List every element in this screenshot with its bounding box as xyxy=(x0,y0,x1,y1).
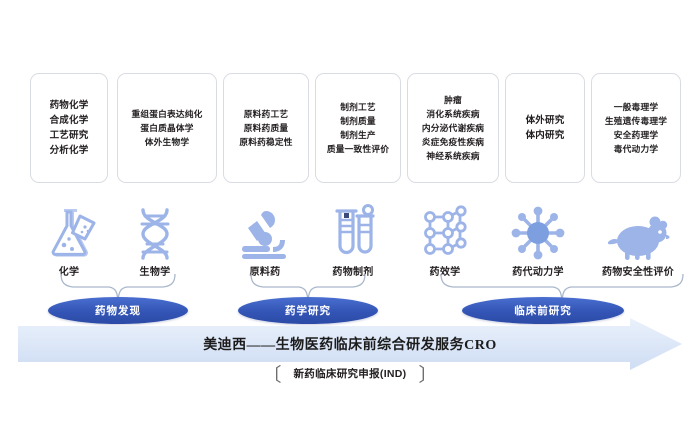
flask-icon xyxy=(40,205,98,261)
box-line: 制剂质量 xyxy=(340,114,376,128)
stage-label: 临床前研究 xyxy=(514,303,572,318)
box-line: 制剂工艺 xyxy=(340,100,376,114)
capability-box-medicinal-chemistry: 药物化学 合成化学 工艺研究 分析化学 xyxy=(30,73,108,183)
microscope-icon xyxy=(236,205,294,261)
ind-label: 新药临床研究申报(IND) xyxy=(294,366,407,381)
box-line: 合成化学 xyxy=(50,113,89,128)
box-line: 药物化学 xyxy=(50,98,89,113)
box-line: 工艺研究 xyxy=(50,128,89,143)
box-line: 蛋白质晶体学 xyxy=(140,121,193,135)
capability-box-disease-areas: 肿瘤 消化系统疾病 内分泌代谢疾病 炎症免疫性疾病 神经系统疾病 xyxy=(407,73,499,183)
dna-icon xyxy=(128,205,182,261)
capability-box-toxicology: 一般毒理学 生殖遗传毒理学 安全药理学 毒代动力学 xyxy=(591,73,681,183)
diagram-canvas: 药物化学 合成化学 工艺研究 分析化学 重组蛋白表达纯化 蛋白质晶体学 体外生物… xyxy=(0,0,700,423)
box-line: 消化系统疾病 xyxy=(426,107,479,121)
box-line: 原料药工艺 xyxy=(244,107,288,121)
box-line: 安全药理学 xyxy=(614,128,658,142)
molecule-network-icon xyxy=(418,205,472,261)
box-line: 原料药稳定性 xyxy=(239,135,292,149)
discipline-biology: 生物学 xyxy=(112,196,198,278)
virus-particle-icon xyxy=(509,205,567,261)
box-line: 重组蛋白表达纯化 xyxy=(131,107,202,121)
discipline-formulation: 药物制剂 xyxy=(310,196,396,278)
stage-label: 药物发现 xyxy=(95,303,141,318)
discipline-safety-evaluation: 药物安全性评价 xyxy=(588,196,688,278)
box-line: 分析化学 xyxy=(50,143,89,158)
capability-box-formulation: 制剂工艺 制剂质量 制剂生产 质量一致性评价 xyxy=(315,73,401,183)
ind-footer: 〔 新药临床研究申报(IND) 〕 xyxy=(0,360,700,387)
box-line: 神经系统疾病 xyxy=(426,149,479,163)
capability-box-in-vitro-in-vivo: 体外研究 体内研究 xyxy=(505,73,585,183)
discipline-pharmacokinetics: 药代动力学 xyxy=(492,196,584,278)
capability-box-api-development: 原料药工艺 原料药质量 原料药稳定性 xyxy=(223,73,309,183)
bracket-left-icon: 〔 xyxy=(262,360,281,387)
box-line: 肿瘤 xyxy=(444,93,462,107)
box-line: 制剂生产 xyxy=(340,128,376,142)
box-line: 质量一致性评价 xyxy=(327,142,389,156)
box-line: 内分泌代谢疾病 xyxy=(422,121,484,135)
discipline-api: 原料药 xyxy=(222,196,308,278)
box-line: 体外生物学 xyxy=(145,135,189,149)
stage-label: 药学研究 xyxy=(285,303,331,318)
test-tubes-icon xyxy=(329,203,377,261)
discipline-chemistry: 化学 xyxy=(26,196,112,278)
box-line: 一般毒理学 xyxy=(614,100,658,114)
box-line: 体内研究 xyxy=(526,128,565,143)
box-line: 毒代动力学 xyxy=(614,142,658,156)
box-line: 原料药质量 xyxy=(244,121,288,135)
box-line: 体外研究 xyxy=(526,113,565,128)
bracket-right-icon: 〕 xyxy=(418,360,437,387)
capability-box-protein-science: 重组蛋白表达纯化 蛋白质晶体学 体外生物学 xyxy=(117,73,217,183)
discipline-pharmacodynamics: 药效学 xyxy=(402,196,488,278)
box-line: 生殖遗传毒理学 xyxy=(605,114,667,128)
mouse-icon xyxy=(605,213,671,261)
box-line: 炎症免疫性疾病 xyxy=(422,135,484,149)
